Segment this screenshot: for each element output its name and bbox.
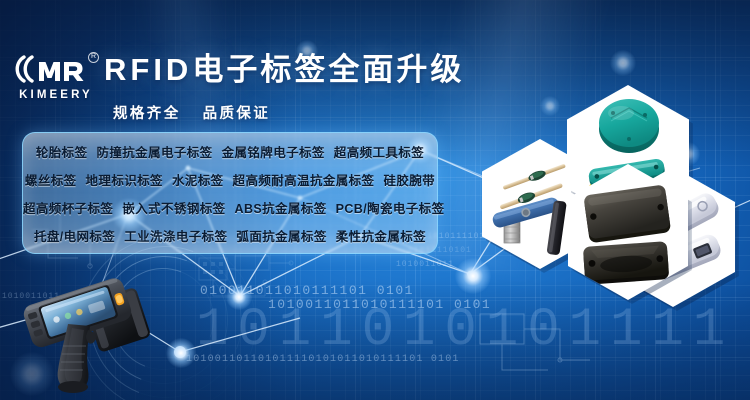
headline-english: RFID xyxy=(104,52,192,87)
page-title: RFID电子标签全面升级 xyxy=(104,50,464,90)
product-item: 托盘/电网标签 xyxy=(34,230,115,244)
product-item: 超高频工具标签 xyxy=(334,146,424,160)
teal-disc-tag xyxy=(599,99,659,153)
product-item: 水泥标签 xyxy=(172,174,224,188)
product-item: 超高频耐高温抗金属标签 xyxy=(233,174,375,188)
product-item: 弧面抗金属标签 xyxy=(236,230,326,244)
registered-trademark-icon: R xyxy=(88,52,99,63)
logo-wordmark: KIMEERY xyxy=(14,89,98,101)
product-item: 超高频杯子标签 xyxy=(23,202,113,216)
product-list: 轮胎标签防撞抗金属电子标签金属铭牌电子标签超高频工具标签 螺丝标签地理标识标签水… xyxy=(23,139,437,251)
product-item: PCB/陶瓷电子标签 xyxy=(336,202,445,216)
product-list-row: 轮胎标签防撞抗金属电子标签金属铭牌电子标签超高频工具标签 xyxy=(23,139,437,167)
product-item: 嵌入式不锈钢标签 xyxy=(122,202,225,216)
product-item: 轮胎标签 xyxy=(36,146,88,160)
page-subtitle: 规格齐全品质保证 xyxy=(113,102,270,123)
black-abs-tag xyxy=(583,184,671,243)
headline-chinese: 电子标签全面升级 xyxy=(192,52,464,87)
product-item: 防撞抗金属电子标签 xyxy=(96,146,212,160)
product-item: 螺丝标签 xyxy=(25,174,77,188)
product-item: 地理标识标签 xyxy=(86,174,163,188)
subtitle-right: 品质保证 xyxy=(203,106,271,122)
kimeery-logo[interactable]: R KIMEERY xyxy=(14,52,98,108)
rfid-handheld-reader xyxy=(22,272,162,394)
product-item: 金属铭牌电子标签 xyxy=(222,146,325,160)
product-item: 硅胶腕带 xyxy=(383,174,435,188)
rfid-handheld-reader-illustration xyxy=(22,272,172,398)
rfid-promo-banner: 1011010101111 010011011010111101 0101 10… xyxy=(0,0,750,400)
product-list-row: 托盘/电网标签工业洗涤电子标签弧面抗金属标签柔性抗金属标签 xyxy=(23,223,437,251)
product-item: 柔性抗金属标签 xyxy=(336,230,426,244)
kmr-mark-icon xyxy=(14,52,98,86)
product-item: ABS抗金属标签 xyxy=(235,202,327,216)
product-list-row: 螺丝标签地理标识标签水泥标签超高频耐高温抗金属标签硅胶腕带 xyxy=(23,167,437,195)
product-list-row: 超高频杯子标签嵌入式不锈钢标签ABS抗金属标签PCB/陶瓷电子标签 xyxy=(23,195,437,223)
product-list-panel: 轮胎标签防撞抗金属电子标签金属铭牌电子标签超高频工具标签 螺丝标签地理标识标签水… xyxy=(22,132,438,254)
black-abs-tag xyxy=(583,241,669,285)
kmr-logo-mark: R xyxy=(14,52,98,86)
subtitle-left: 规格齐全 xyxy=(113,106,181,122)
